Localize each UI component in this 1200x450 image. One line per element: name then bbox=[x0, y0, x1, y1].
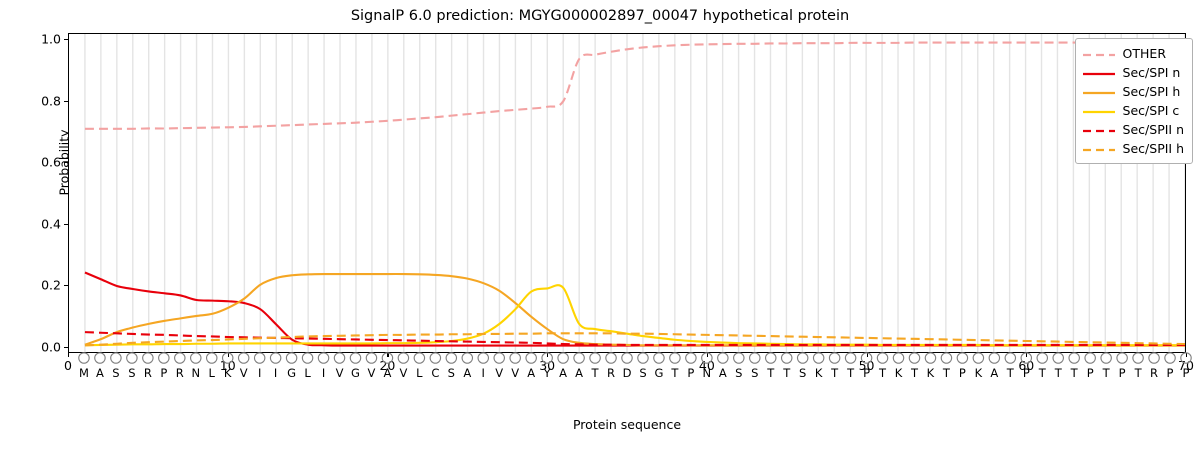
residue-marker bbox=[143, 353, 153, 363]
residue-marker bbox=[941, 353, 951, 363]
residue-marker bbox=[622, 353, 632, 363]
residue-marker bbox=[925, 353, 935, 363]
y-tick-label: 0.8 bbox=[21, 93, 61, 108]
residue-marker bbox=[286, 353, 296, 363]
residue-marker bbox=[430, 353, 440, 363]
legend-swatch-sec-spii-n bbox=[1082, 123, 1116, 137]
residue-marker bbox=[957, 353, 967, 363]
y-tick-label: 1.0 bbox=[21, 32, 61, 47]
residue-marker bbox=[1053, 353, 1063, 363]
x-tick-mark bbox=[867, 353, 868, 357]
residue-marker bbox=[606, 353, 616, 363]
residue-marker bbox=[574, 353, 584, 363]
legend-item-other: OTHER bbox=[1082, 44, 1184, 63]
residue-marker bbox=[446, 353, 456, 363]
legend-item-sec-spi-h: Sec/SPI h bbox=[1082, 82, 1184, 101]
x-tick-mark bbox=[707, 353, 708, 357]
legend-item-sec-spi-n: Sec/SPI n bbox=[1082, 63, 1184, 82]
residue-marker bbox=[462, 353, 472, 363]
residue-marker bbox=[270, 353, 280, 363]
residue-marker bbox=[813, 353, 823, 363]
x-tick-mark bbox=[387, 353, 388, 357]
residue-marker bbox=[670, 353, 680, 363]
x-tick-mark bbox=[547, 353, 548, 357]
residue-marker bbox=[478, 353, 488, 363]
residue-marker bbox=[510, 353, 520, 363]
residue-marker bbox=[750, 353, 760, 363]
legend-swatch-sec-spi-n bbox=[1082, 66, 1116, 80]
residue-marker bbox=[350, 353, 360, 363]
legend-item-sec-spii-h: Sec/SPII h bbox=[1082, 139, 1184, 158]
y-tick-label: 0.0 bbox=[21, 339, 61, 354]
residue-marker bbox=[638, 353, 648, 363]
residue-marker bbox=[191, 353, 201, 363]
legend-label-sec-spi-c: Sec/SPI c bbox=[1123, 103, 1180, 118]
legend-swatch-sec-spi-c bbox=[1082, 104, 1116, 118]
residue-marker bbox=[175, 353, 185, 363]
legend-swatch-other bbox=[1082, 47, 1116, 61]
residue-marker bbox=[95, 353, 105, 363]
series-curves bbox=[69, 34, 1185, 352]
x-tick-mark bbox=[68, 353, 69, 357]
x-tick-mark bbox=[1186, 353, 1187, 357]
residue-marker bbox=[766, 353, 776, 363]
series-line-other bbox=[85, 43, 1185, 129]
residue-marker bbox=[782, 353, 792, 363]
residue-marker bbox=[989, 353, 999, 363]
legend-item-sec-spii-n: Sec/SPII n bbox=[1082, 120, 1184, 139]
plot-area bbox=[68, 33, 1186, 353]
residue-marker bbox=[334, 353, 344, 363]
legend: OTHERSec/SPI nSec/SPI hSec/SPI cSec/SPII… bbox=[1075, 38, 1193, 164]
x-axis-label: Protein sequence bbox=[68, 417, 1186, 432]
signalp-prediction-figure: SignalP 6.0 prediction: MGYG000002897_00… bbox=[0, 0, 1200, 450]
residue-marker bbox=[159, 353, 169, 363]
x-tick-mark bbox=[228, 353, 229, 357]
legend-swatch-sec-spii-h bbox=[1082, 142, 1116, 156]
residue-marker bbox=[734, 353, 744, 363]
residue-marker bbox=[318, 353, 328, 363]
legend-item-sec-spi-c: Sec/SPI c bbox=[1082, 101, 1184, 120]
residue-marker bbox=[414, 353, 424, 363]
legend-label-sec-spii-h: Sec/SPII h bbox=[1123, 141, 1184, 156]
legend-label-other: OTHER bbox=[1123, 46, 1166, 61]
residue-marker bbox=[829, 353, 839, 363]
residue-marker bbox=[973, 353, 983, 363]
y-tick-label: 0.4 bbox=[21, 216, 61, 231]
residue-letter: P bbox=[1177, 366, 1195, 380]
residue-marker bbox=[494, 353, 504, 363]
legend-swatch-sec-spi-h bbox=[1082, 85, 1116, 99]
residue-marker bbox=[654, 353, 664, 363]
residue-marker bbox=[1117, 353, 1127, 363]
residue-marker bbox=[909, 353, 919, 363]
residue-marker bbox=[1101, 353, 1111, 363]
y-tick-label: 0.2 bbox=[21, 278, 61, 293]
residue-marker bbox=[1085, 353, 1095, 363]
residue-marker bbox=[1069, 353, 1079, 363]
x-tick-mark bbox=[1026, 353, 1027, 357]
page-title: SignalP 6.0 prediction: MGYG000002897_00… bbox=[0, 8, 1200, 24]
residue-marker bbox=[797, 353, 807, 363]
residue-marker bbox=[302, 353, 312, 363]
residue-marker bbox=[254, 353, 264, 363]
residue-marker bbox=[1149, 353, 1159, 363]
residue-marker bbox=[1133, 353, 1143, 363]
residue-marker bbox=[590, 353, 600, 363]
legend-label-sec-spii-n: Sec/SPII n bbox=[1123, 122, 1184, 137]
legend-label-sec-spi-n: Sec/SPI n bbox=[1123, 65, 1181, 80]
residue-marker bbox=[127, 353, 137, 363]
legend-label-sec-spi-h: Sec/SPI h bbox=[1123, 84, 1181, 99]
y-tick-label: 0.6 bbox=[21, 155, 61, 170]
residue-marker bbox=[893, 353, 903, 363]
residue-marker bbox=[111, 353, 121, 363]
